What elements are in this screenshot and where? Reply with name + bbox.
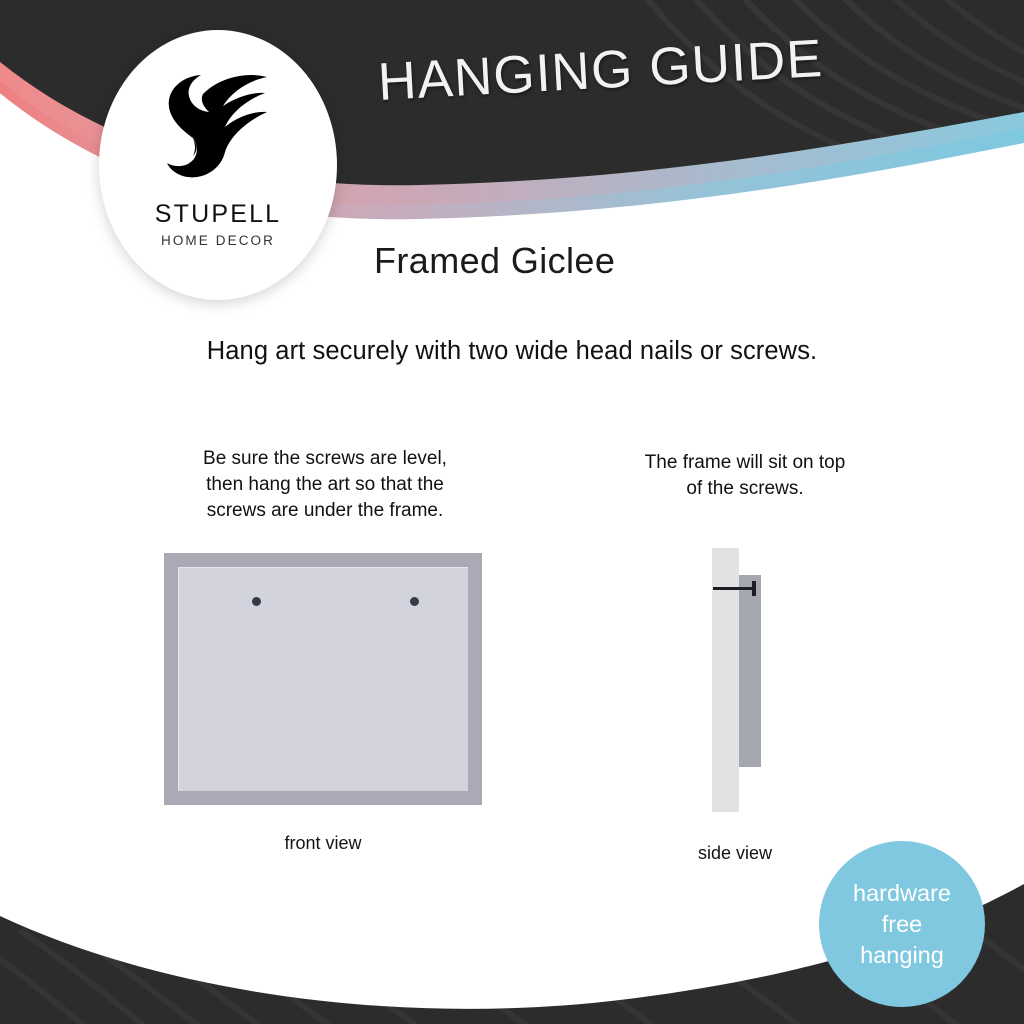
product-type-heading: Framed Giclee	[374, 240, 615, 282]
side-view-label: side view	[655, 843, 815, 864]
front-view-caption: Be sure the screws are level, then hang …	[150, 446, 500, 524]
side-caption-line-1: The frame will sit on top	[600, 450, 890, 476]
nail-head-icon	[752, 581, 756, 596]
badge-line-3: hanging	[860, 940, 944, 971]
frame-inner-panel	[178, 567, 468, 791]
front-view-label: front view	[164, 833, 482, 854]
badge-line-1: hardware	[853, 878, 951, 909]
front-view-frame-diagram	[164, 553, 482, 805]
front-caption-line-2: then hang the art so that the	[150, 472, 500, 498]
side-view-caption: The frame will sit on top of the screws.	[600, 450, 890, 502]
hardware-free-hanging-badge: hardware free hanging	[819, 841, 985, 1007]
hanging-guide-page: HANGING GUIDE STUPELL HOME DECOR Framed …	[0, 0, 1024, 1024]
frame-edge-bar	[739, 575, 761, 767]
screw-dot-right	[410, 597, 419, 606]
page-title: HANGING GUIDE	[376, 28, 824, 113]
front-caption-line-1: Be sure the screws are level,	[150, 446, 500, 472]
side-caption-line-2: of the screws.	[600, 476, 890, 502]
front-caption-line-3: screws are under the frame.	[150, 498, 500, 524]
stupell-swoosh-icon	[159, 64, 277, 196]
brand-subwordmark: HOME DECOR	[161, 233, 275, 248]
side-view-diagram	[680, 535, 820, 825]
brand-wordmark: STUPELL	[155, 200, 282, 229]
brand-logo-badge: STUPELL HOME DECOR	[99, 30, 337, 300]
primary-instruction: Hang art securely with two wide head nai…	[0, 337, 1024, 366]
screw-dot-left	[252, 597, 261, 606]
nail-side-icon	[713, 587, 755, 590]
badge-line-2: free	[882, 909, 923, 940]
